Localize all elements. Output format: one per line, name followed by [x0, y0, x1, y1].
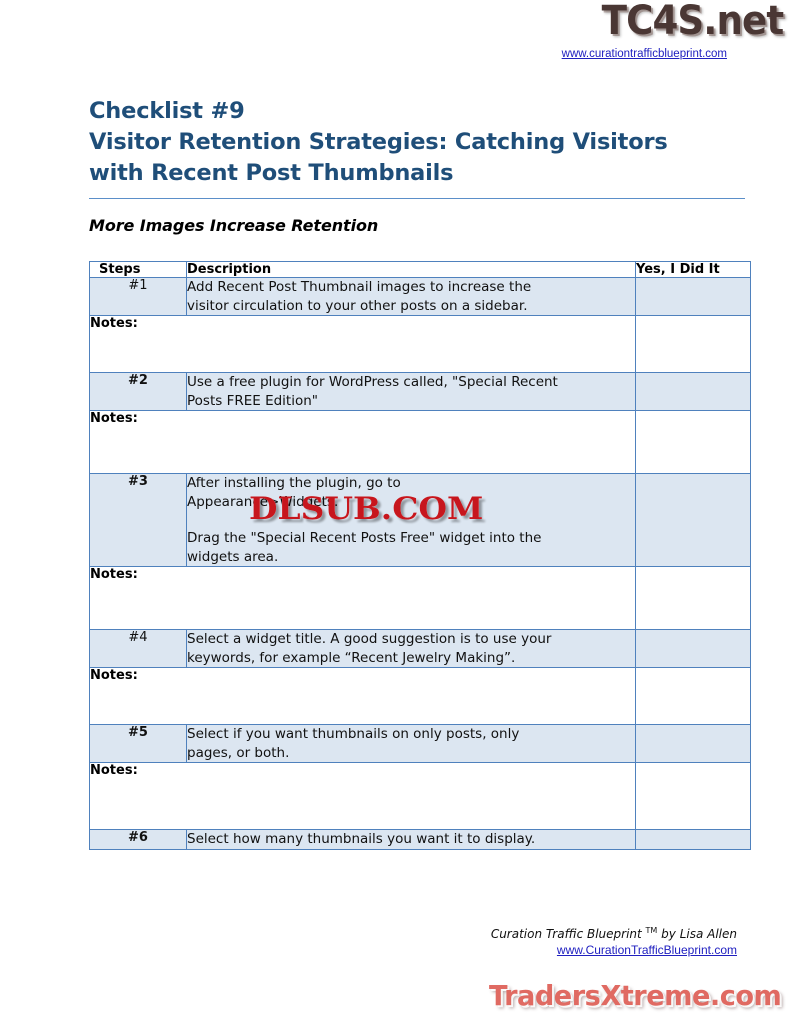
yes-checkbox-cell[interactable] — [636, 411, 751, 474]
table-row: #5 Select if you want thumbnails on only… — [90, 725, 751, 763]
yes-checkbox-cell[interactable] — [636, 668, 751, 725]
notes-row: Notes: — [90, 567, 751, 630]
table-row: #2 Use a free plugin for WordPress calle… — [90, 373, 751, 411]
table-row: #4 Select a widget title. A good suggest… — [90, 630, 751, 668]
section-subtitle: More Images Increase Retention — [89, 216, 745, 235]
column-header-yes-i-did-it: Yes, I Did It — [636, 262, 751, 278]
step-number: #3 — [90, 474, 187, 567]
table-header-row: Steps Description Yes, I Did It — [90, 262, 751, 278]
yes-checkbox-cell[interactable] — [636, 630, 751, 668]
desc-line: pages, or both. — [187, 744, 635, 763]
yes-checkbox-cell[interactable] — [636, 725, 751, 763]
step-number: #1 — [90, 278, 187, 316]
step-number: #2 — [90, 373, 187, 411]
desc-line: Add Recent Post Thumbnail images to incr… — [187, 278, 635, 297]
yes-checkbox-cell[interactable] — [636, 763, 751, 830]
yes-checkbox-cell[interactable] — [636, 278, 751, 316]
footer-credit-prefix: Curation Traffic Blueprint — [491, 927, 646, 941]
footer-site-url-link[interactable]: www.CurationTrafficBlueprint.com — [0, 943, 737, 957]
yes-checkbox-cell[interactable] — [636, 830, 751, 850]
top-site-url-link[interactable]: www.curationtrafficblueprint.com — [562, 48, 727, 60]
desc-line: After installing the plugin, go to — [187, 474, 635, 493]
notes-label: Notes: — [90, 763, 636, 830]
step-description: Select if you want thumbnails on only po… — [187, 725, 636, 763]
notes-row: Notes: — [90, 763, 751, 830]
table-row: #1 Add Recent Post Thumbnail images to i… — [90, 278, 751, 316]
yes-checkbox-cell[interactable] — [636, 373, 751, 411]
footer-credit: Curation Traffic Blueprint TM by Lisa Al… — [0, 926, 737, 941]
step-number: #4 — [90, 630, 187, 668]
step-description: Add Recent Post Thumbnail images to incr… — [187, 278, 636, 316]
yes-checkbox-cell[interactable] — [636, 567, 751, 630]
notes-label: Notes: — [90, 668, 636, 725]
step-description: Select how many thumbnails you want it t… — [187, 830, 636, 850]
step-description: Use a free plugin for WordPress called, … — [187, 373, 636, 411]
desc-line: Select a widget title. A good suggestion… — [187, 630, 635, 649]
title-line-1: Checklist #9 — [89, 96, 745, 127]
table-row: #3 After installing the plugin, go to Ap… — [90, 474, 751, 567]
desc-line: keywords, for example “Recent Jewelry Ma… — [187, 649, 635, 668]
notes-row: Notes: — [90, 668, 751, 725]
column-header-steps: Steps — [90, 262, 187, 278]
notes-row: Notes: — [90, 411, 751, 474]
column-header-description: Description — [187, 262, 636, 278]
table-row: #6 Select how many thumbnails you want i… — [90, 830, 751, 850]
notes-row: Notes: — [90, 316, 751, 373]
page-footer: Curation Traffic Blueprint TM by Lisa Al… — [0, 926, 737, 957]
step-number: #5 — [90, 725, 187, 763]
desc-line: Drag the "Special Recent Posts Free" wid… — [187, 529, 635, 548]
footer-credit-suffix: by Lisa Allen — [657, 927, 737, 941]
yes-checkbox-cell[interactable] — [636, 316, 751, 373]
desc-line: Select if you want thumbnails on only po… — [187, 725, 635, 744]
notes-label: Notes: — [90, 411, 636, 474]
desc-line: Posts FREE Edition" — [187, 392, 635, 411]
notes-label: Notes: — [90, 567, 636, 630]
step-description: Select a widget title. A good suggestion… — [187, 630, 636, 668]
checklist-table: Steps Description Yes, I Did It #1 Add R… — [89, 261, 751, 850]
title-line-2: Visitor Retention Strategies: Catching V… — [89, 127, 745, 158]
desc-line: visitor circulation to your other posts … — [187, 297, 635, 316]
step-number: #6 — [90, 830, 187, 850]
title-line-3: with Recent Post Thumbnails — [89, 158, 745, 189]
tradersxtreme-logo: TradersXtreme.com — [489, 979, 781, 1012]
title-divider — [89, 198, 745, 199]
desc-line: widgets area. — [187, 548, 635, 567]
top-branding-bar: TC4S.net www.curationtrafficblueprint.co… — [0, 0, 791, 78]
desc-line: Appearance>Widgets. — [187, 493, 635, 512]
desc-line: Use a free plugin for WordPress called, … — [187, 373, 635, 392]
notes-label: Notes: — [90, 316, 636, 373]
page-title: Checklist #9 Visitor Retention Strategie… — [89, 96, 745, 189]
tc4s-logo: TC4S.net — [601, 0, 783, 44]
step-description: After installing the plugin, go to Appea… — [187, 474, 636, 567]
title-block: Checklist #9 Visitor Retention Strategie… — [89, 96, 745, 235]
desc-line: Select how many thumbnails you want it t… — [187, 830, 635, 849]
trademark-mark: TM — [646, 926, 658, 935]
yes-checkbox-cell[interactable] — [636, 474, 751, 567]
